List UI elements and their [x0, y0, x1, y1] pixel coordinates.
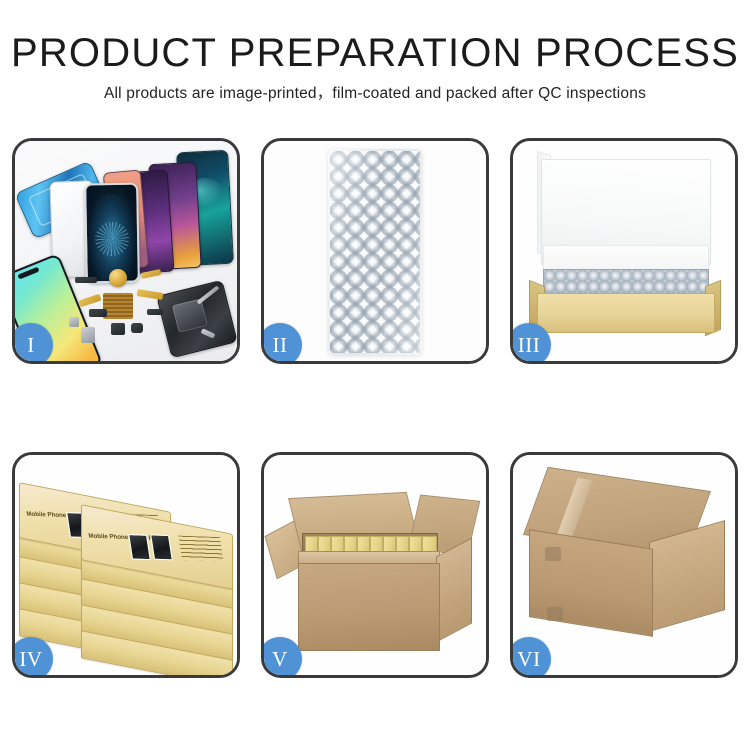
step-badge-5: V [264, 637, 302, 675]
photo-sealed-carton: VI [513, 455, 735, 675]
box-art-screen-front-2 [150, 534, 173, 560]
photo-open-kraft-box: III [513, 141, 735, 361]
product-preparation-process-infographic: PRODUCT PREPARATION PROCESS All products… [0, 0, 750, 750]
phone-front-glass [84, 183, 140, 284]
part-flex-cable-left [78, 294, 101, 307]
part-bracket [69, 317, 79, 327]
photo-open-carton-packed: V [264, 455, 486, 675]
process-step-panel-2: II [261, 138, 489, 364]
part-button-flex [147, 309, 163, 315]
part-connector-bar [75, 277, 97, 283]
photo-phone-products: I [15, 141, 237, 361]
bubble-wrap-package [328, 149, 422, 355]
page-title: PRODUCT PREPARATION PROCESS [0, 30, 750, 76]
phone-open-back-housing [156, 280, 237, 359]
carton-side-right [436, 537, 472, 642]
process-step-panel-1: I [12, 138, 240, 364]
step-badge-2: II [264, 323, 302, 361]
process-step-grid: I II III [12, 138, 738, 738]
carton-handle-notch-top [545, 547, 561, 561]
part-sim-tray [81, 327, 95, 343]
process-step-panel-3: III [510, 138, 738, 364]
part-camera-module [111, 323, 125, 335]
carton-handle-notch-bottom [547, 607, 563, 621]
page-subtitle: All products are image-printed，film-coat… [0, 84, 750, 104]
process-step-panel-4: Mobile Phone Spare Parts Mobile Phone Sp… [12, 452, 240, 678]
process-step-panel-5: V [261, 452, 489, 678]
box-spec-lines-front [178, 536, 223, 562]
carton-front [298, 563, 440, 651]
process-step-panel-6: VI [510, 452, 738, 678]
part-battery-connector [89, 309, 107, 317]
part-speaker-coil [109, 269, 127, 287]
part-flex-cable-right [137, 289, 164, 300]
part-vibrator-motor [131, 323, 143, 333]
box-front-panel [537, 293, 715, 333]
photo-bubble-wrapped-part: II [264, 141, 486, 361]
box-stack: Mobile Phone Spare Parts Mobile Phone Sp… [19, 471, 237, 671]
box-art-screen-front-1 [128, 534, 151, 560]
part-chip-grid [103, 293, 133, 319]
photo-stacked-retail-boxes: Mobile Phone Spare Parts Mobile Phone Sp… [15, 455, 237, 675]
plastic-sheen [328, 149, 422, 355]
step-badge-6: VI [513, 637, 551, 675]
header: PRODUCT PREPARATION PROCESS All products… [0, 0, 750, 126]
